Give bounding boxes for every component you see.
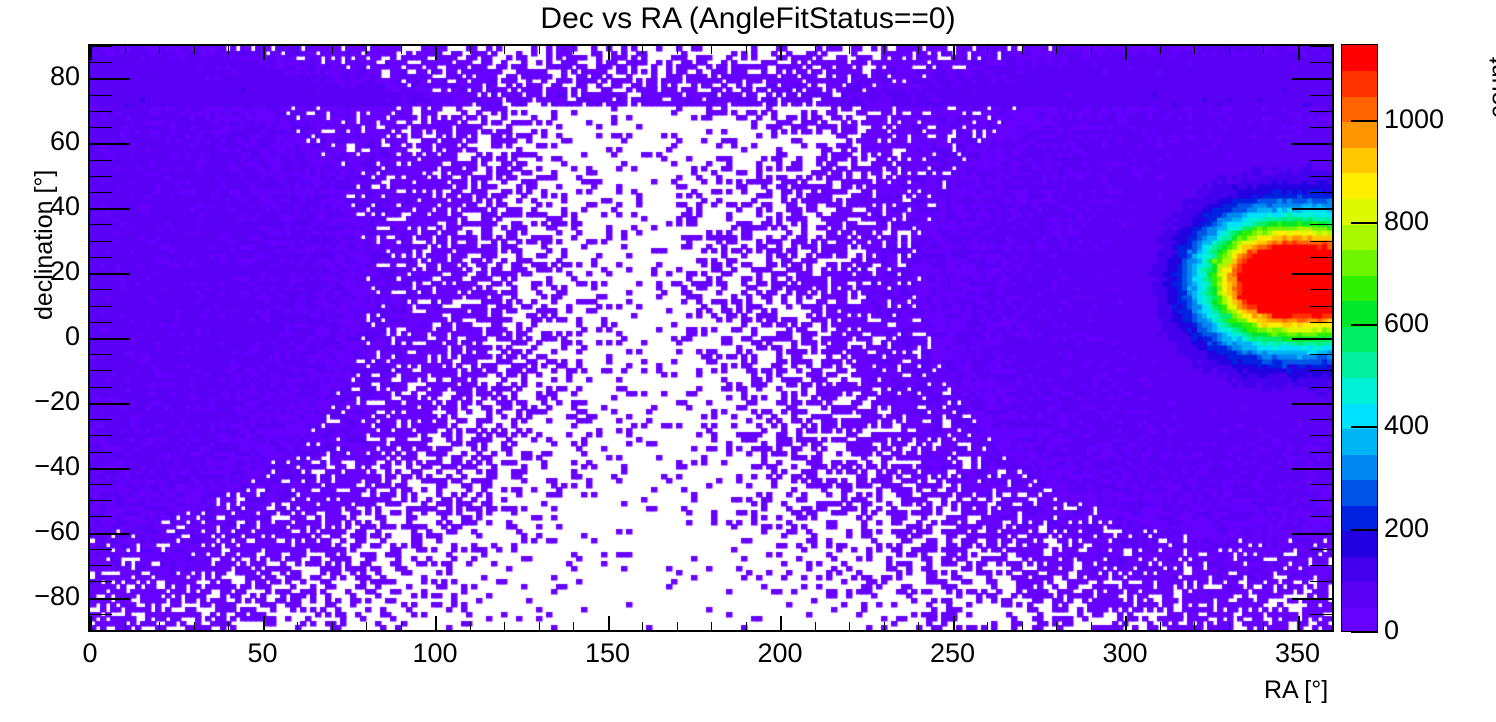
y-tick-label: −80 — [0, 581, 80, 612]
y-minor-tick — [90, 435, 112, 436]
x-minor-tick-top — [1091, 46, 1092, 54]
colorbar-band — [1342, 480, 1377, 506]
x-minor-tick-top — [366, 46, 367, 54]
y-minor-tick-right — [1310, 387, 1332, 388]
x-tick-label: 50 — [203, 638, 323, 669]
colorbar-band — [1342, 198, 1377, 224]
y-minor-tick — [90, 484, 112, 485]
x-major-tick-top — [90, 46, 92, 60]
root-canvas: Dec vs RA (AngleFitStatus==0) 0501001502… — [0, 0, 1496, 722]
x-minor-tick-top — [297, 46, 298, 54]
colorbar-band — [1342, 454, 1377, 480]
x-minor-tick — [125, 622, 126, 630]
x-minor-tick-top — [1022, 46, 1023, 54]
colorbar-band — [1342, 173, 1377, 199]
y-minor-tick — [90, 62, 112, 63]
x-minor-tick-top — [1332, 46, 1333, 54]
x-minor-tick — [366, 622, 367, 630]
y-minor-tick — [90, 549, 112, 550]
x-minor-tick-top — [1229, 46, 1230, 54]
y-tick-label: −40 — [0, 451, 80, 482]
x-tick-label: 0 — [30, 638, 150, 669]
x-minor-tick — [504, 622, 505, 630]
y-minor-tick — [90, 241, 112, 242]
x-minor-tick-top — [401, 46, 402, 54]
y-tick-label: 80 — [0, 61, 80, 92]
x-minor-tick-top — [159, 46, 160, 54]
y-major-tick — [90, 403, 130, 405]
x-minor-tick-top — [332, 46, 333, 54]
y-minor-tick — [90, 322, 112, 323]
y-major-tick-right — [1292, 403, 1332, 405]
colorbar-band — [1342, 250, 1377, 276]
y-minor-tick — [90, 354, 112, 355]
y-minor-tick — [90, 452, 112, 453]
y-minor-tick-right — [1310, 176, 1332, 177]
y-minor-tick — [90, 306, 112, 307]
x-tick-label: 350 — [1238, 638, 1358, 669]
x-minor-tick-top — [642, 46, 643, 54]
colorbar-band — [1342, 403, 1377, 429]
y-tick-label: 0 — [0, 321, 80, 352]
x-minor-tick-top — [849, 46, 850, 54]
y-minor-tick-right — [1310, 111, 1332, 112]
y-major-tick-right — [1292, 533, 1332, 535]
y-minor-tick — [90, 419, 112, 420]
x-minor-tick — [884, 622, 885, 630]
y-major-tick — [90, 273, 130, 275]
y-major-tick-right — [1292, 208, 1332, 210]
y-major-tick — [90, 533, 130, 535]
x-major-tick — [780, 616, 782, 630]
x-minor-tick — [987, 622, 988, 630]
x-minor-tick-top — [228, 46, 229, 54]
y-minor-tick — [90, 581, 112, 582]
x-tick-label: 250 — [893, 638, 1013, 669]
x-minor-tick-top — [711, 46, 712, 54]
colorbar-tick-label: 600 — [1384, 308, 1429, 339]
y-minor-tick-right — [1310, 500, 1332, 501]
page-title: Dec vs RA (AngleFitStatus==0) — [0, 2, 1496, 36]
y-minor-tick — [90, 516, 112, 517]
y-major-tick — [90, 208, 130, 210]
y-minor-tick — [90, 46, 112, 47]
x-major-tick-top — [953, 46, 955, 60]
y-minor-tick — [90, 127, 112, 128]
colorbar-band — [1342, 122, 1377, 148]
x-minor-tick — [1194, 622, 1195, 630]
x-major-tick-top — [780, 46, 782, 60]
x-minor-tick-top — [125, 46, 126, 54]
x-tick-label: 100 — [375, 638, 495, 669]
x-minor-tick-top — [1056, 46, 1057, 54]
x-major-tick — [1298, 616, 1300, 630]
x-minor-tick-top — [1160, 46, 1161, 54]
heatmap-image — [90, 46, 1332, 630]
y-major-tick — [90, 468, 130, 470]
y-minor-tick-right — [1310, 354, 1332, 355]
colorbar-title: count — [1484, 57, 1496, 118]
colorbar-band — [1342, 377, 1377, 403]
y-minor-tick-right — [1310, 192, 1332, 193]
x-minor-tick — [470, 622, 471, 630]
x-minor-tick-top — [1263, 46, 1264, 54]
y-minor-tick-right — [1310, 241, 1332, 242]
y-major-tick — [90, 598, 130, 600]
x-major-tick — [1125, 616, 1127, 630]
x-minor-tick-top — [987, 46, 988, 54]
y-minor-tick-right — [1310, 549, 1332, 550]
x-minor-tick-top — [815, 46, 816, 54]
y-minor-tick — [90, 111, 112, 112]
y-minor-tick — [90, 176, 112, 177]
y-tick-label: −60 — [0, 516, 80, 547]
x-minor-tick-top — [573, 46, 574, 54]
x-tick-label: 150 — [548, 638, 668, 669]
x-minor-tick — [1160, 622, 1161, 630]
y-minor-tick-right — [1310, 46, 1332, 47]
x-minor-tick — [642, 622, 643, 630]
colorbar-band — [1342, 428, 1377, 454]
colorbar-band — [1342, 556, 1377, 582]
y-minor-tick-right — [1310, 160, 1332, 161]
y-minor-tick-right — [1310, 370, 1332, 371]
x-minor-tick — [1332, 622, 1333, 630]
y-minor-tick — [90, 614, 112, 615]
plot-frame — [88, 44, 1334, 632]
x-major-tick — [90, 616, 92, 630]
y-major-tick-right — [1292, 143, 1332, 145]
x-minor-tick — [1056, 622, 1057, 630]
y-minor-tick — [90, 387, 112, 388]
x-major-tick-top — [608, 46, 610, 60]
x-minor-tick — [1022, 622, 1023, 630]
y-minor-tick-right — [1310, 516, 1332, 517]
x-minor-tick — [1229, 622, 1230, 630]
y-minor-tick-right — [1310, 484, 1332, 485]
x-minor-tick — [228, 622, 229, 630]
x-minor-tick-top — [918, 46, 919, 54]
y-major-tick — [90, 338, 130, 340]
y-minor-tick-right — [1310, 435, 1332, 436]
x-minor-tick-top — [884, 46, 885, 54]
colorbar-band — [1342, 147, 1377, 173]
y-minor-tick — [90, 257, 112, 258]
colorbar-band — [1342, 326, 1377, 352]
y-major-tick-right — [1292, 78, 1332, 80]
colorbar-tick-label: 0 — [1384, 615, 1399, 646]
colorbar-band — [1342, 71, 1377, 97]
y-tick-label: 60 — [0, 126, 80, 157]
y-minor-tick — [90, 95, 112, 96]
colorbar-band — [1342, 352, 1377, 378]
y-minor-tick — [90, 160, 112, 161]
colorbar-band — [1342, 582, 1377, 608]
colorbar-tick-label: 400 — [1384, 410, 1429, 441]
x-minor-tick — [401, 622, 402, 630]
colorbar-tick-label: 1000 — [1384, 104, 1444, 135]
colorbar-band — [1342, 275, 1377, 301]
x-major-tick — [608, 616, 610, 630]
x-tick-label: 300 — [1065, 638, 1185, 669]
x-minor-tick-top — [539, 46, 540, 54]
x-minor-tick — [677, 622, 678, 630]
x-minor-tick — [1263, 622, 1264, 630]
y-minor-tick-right — [1310, 62, 1332, 63]
y-axis-title: declination [°] — [30, 170, 59, 320]
x-minor-tick — [849, 622, 850, 630]
y-minor-tick-right — [1310, 224, 1332, 225]
x-major-tick-top — [263, 46, 265, 60]
x-axis-title: RA [°] — [1264, 676, 1328, 705]
y-minor-tick — [90, 192, 112, 193]
colorbar-band — [1342, 45, 1377, 71]
x-major-tick-top — [1298, 46, 1300, 60]
x-tick-label: 200 — [720, 638, 840, 669]
y-major-tick-right — [1292, 598, 1332, 600]
x-minor-tick — [332, 622, 333, 630]
colorbar-band — [1342, 301, 1377, 327]
x-minor-tick-top — [504, 46, 505, 54]
y-minor-tick-right — [1310, 614, 1332, 615]
x-minor-tick — [918, 622, 919, 630]
x-minor-tick — [711, 622, 712, 630]
y-minor-tick-right — [1310, 289, 1332, 290]
y-minor-tick-right — [1310, 452, 1332, 453]
x-minor-tick — [297, 622, 298, 630]
y-minor-tick — [90, 370, 112, 371]
y-minor-tick-right — [1310, 419, 1332, 420]
x-minor-tick-top — [746, 46, 747, 54]
y-minor-tick-right — [1310, 127, 1332, 128]
x-minor-tick — [539, 622, 540, 630]
x-minor-tick — [1091, 622, 1092, 630]
y-minor-tick-right — [1310, 257, 1332, 258]
x-minor-tick — [815, 622, 816, 630]
x-minor-tick-top — [470, 46, 471, 54]
colorbar-band — [1342, 505, 1377, 531]
x-minor-tick — [194, 622, 195, 630]
x-minor-tick — [159, 622, 160, 630]
y-minor-tick-right — [1310, 581, 1332, 582]
y-minor-tick-right — [1310, 306, 1332, 307]
x-major-tick — [435, 616, 437, 630]
x-minor-tick — [746, 622, 747, 630]
x-minor-tick-top — [1194, 46, 1195, 54]
y-major-tick — [90, 78, 130, 80]
y-major-tick-right — [1292, 338, 1332, 340]
x-minor-tick-top — [677, 46, 678, 54]
y-major-tick-right — [1292, 273, 1332, 275]
colorbar-band — [1342, 607, 1377, 632]
y-minor-tick-right — [1310, 322, 1332, 323]
x-major-tick — [263, 616, 265, 630]
x-major-tick — [953, 616, 955, 630]
y-tick-label: −20 — [0, 386, 80, 417]
x-minor-tick — [573, 622, 574, 630]
colorbar-band — [1342, 96, 1377, 122]
colorbar-tick-label: 200 — [1384, 513, 1429, 544]
y-minor-tick — [90, 565, 112, 566]
y-minor-tick-right — [1310, 565, 1332, 566]
colorbar-band — [1342, 531, 1377, 557]
colorbar — [1341, 44, 1378, 632]
x-major-tick-top — [1125, 46, 1127, 60]
y-minor-tick-right — [1310, 95, 1332, 96]
x-minor-tick-top — [194, 46, 195, 54]
colorbar-band — [1342, 224, 1377, 250]
y-minor-tick-right — [1310, 630, 1332, 631]
y-minor-tick — [90, 289, 112, 290]
y-major-tick-right — [1292, 468, 1332, 470]
y-major-tick — [90, 143, 130, 145]
x-major-tick-top — [435, 46, 437, 60]
colorbar-tick-label: 800 — [1384, 206, 1429, 237]
y-minor-tick — [90, 500, 112, 501]
y-minor-tick — [90, 630, 112, 631]
y-minor-tick — [90, 224, 112, 225]
